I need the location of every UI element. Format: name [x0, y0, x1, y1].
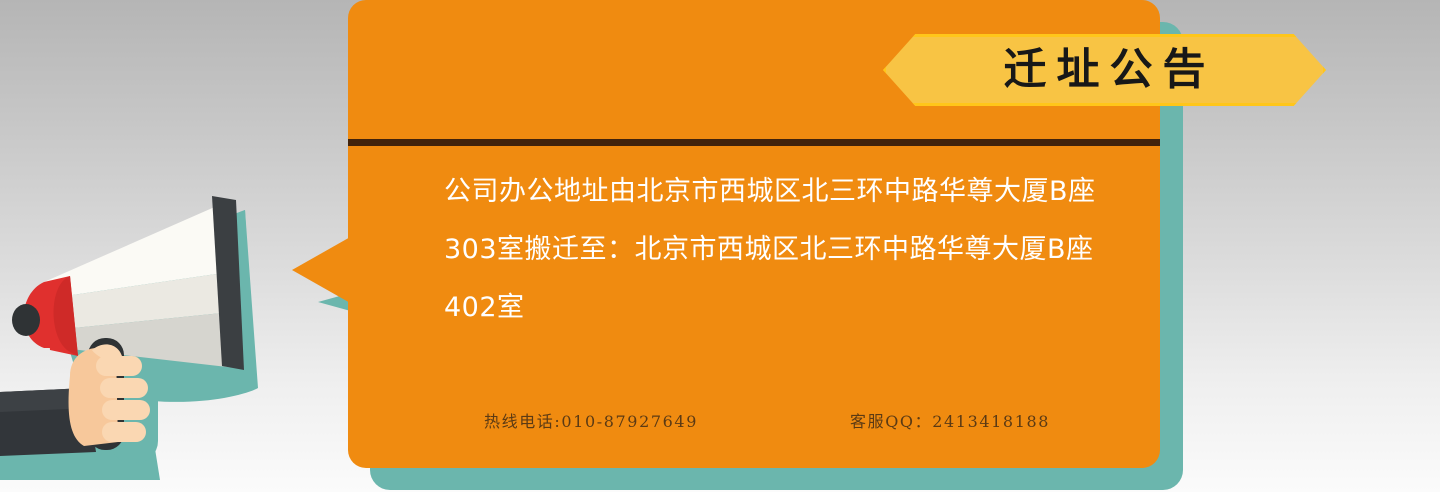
announcement-body-text: 公司办公地址由北京市西城区北三环中路华尊大厦B座303室搬迁至：北京市西城区北三…	[444, 163, 1096, 337]
speech-bubble-tail	[292, 236, 352, 304]
announcement-footer: 热线电话:010-87927649 客服QQ：2413418188	[348, 408, 1160, 438]
hand	[69, 344, 150, 446]
megaphone-cone	[12, 202, 236, 368]
announcement-title: 迁址公告	[994, 49, 1216, 92]
announcement-banner: 迁址公告 公司办公地址由北京市西城区北三环中路华尊大厦B座303室搬迁至：北京市…	[0, 0, 1440, 492]
customer-service-qq: 客服QQ：2413418188	[850, 408, 1050, 432]
hotline-phone: 热线电话:010-87927649	[484, 408, 698, 432]
title-divider	[348, 139, 1160, 146]
announcement-title-badge: 迁址公告	[883, 34, 1326, 106]
megaphone-illustration	[0, 180, 320, 492]
megaphone-knob	[12, 304, 40, 336]
